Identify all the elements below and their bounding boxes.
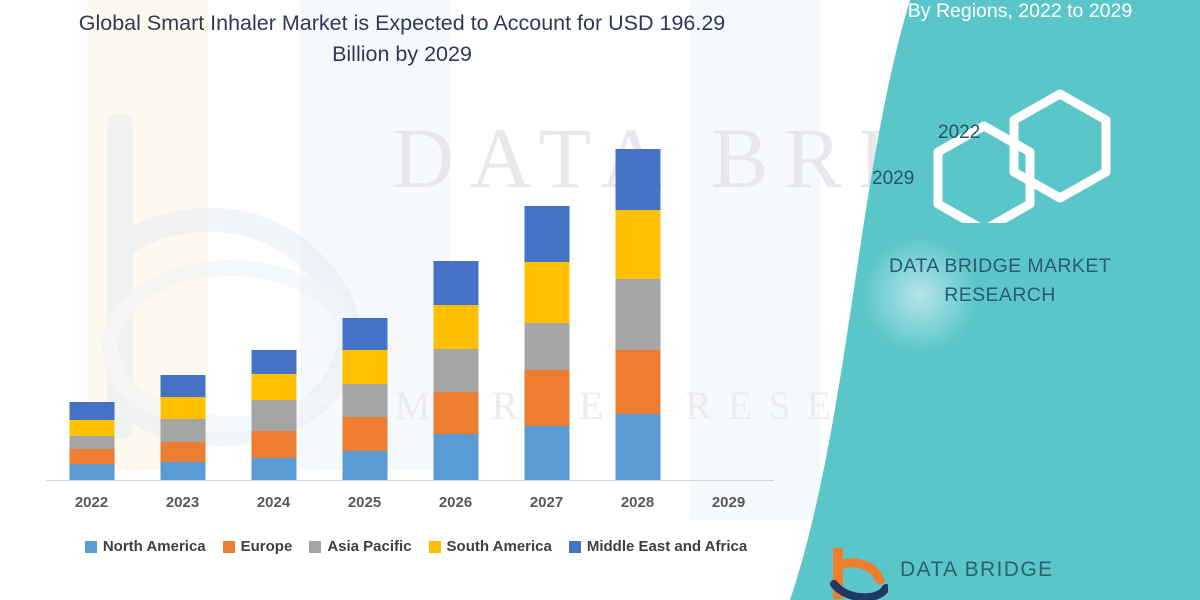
bar-segment <box>615 210 660 279</box>
bar-segment <box>69 420 114 436</box>
bar-segment <box>160 419 205 442</box>
x-axis-label: 2029 <box>683 494 774 511</box>
x-axis-label: 2028 <box>592 494 683 511</box>
bar-segment <box>69 436 114 449</box>
x-axis-line <box>46 480 774 481</box>
legend-swatch-icon <box>85 541 97 553</box>
stacked-bar <box>251 350 296 480</box>
x-axis-label: 2026 <box>410 494 501 511</box>
bar-segment <box>524 323 569 370</box>
right-teal-panel: By Regions, 2022 to 2029 2022 2029 DATA … <box>790 0 1200 600</box>
bar-segment <box>342 350 387 384</box>
stacked-bar <box>342 318 387 480</box>
bar-segment <box>524 262 569 323</box>
legend-label: North America <box>103 538 206 555</box>
bar-segment <box>160 442 205 463</box>
legend-label: Middle East and Africa <box>587 538 747 555</box>
stacked-bar <box>69 402 114 480</box>
bar-segment <box>615 414 660 480</box>
bar-segment <box>524 370 569 426</box>
panel-brand: DATA BRIDGE MARKET RESEARCH <box>820 252 1180 310</box>
bar-segment <box>433 349 478 391</box>
x-axis-label: 2022 <box>46 494 137 511</box>
bar-segment <box>251 374 296 399</box>
hex-label-2029: 2029 <box>872 168 914 190</box>
infographic-canvas: DATA BRIDGE MARKET RESEARCH Global Smart… <box>0 0 1200 600</box>
bar-segment <box>433 305 478 349</box>
bar-segment <box>433 392 478 434</box>
bar-segment <box>524 206 569 262</box>
panel-brand-line-1: DATA BRIDGE MARKET <box>820 252 1180 281</box>
legend-item[interactable]: Asia Pacific <box>309 538 411 555</box>
bar-segment <box>69 402 114 420</box>
bar-segment <box>615 350 660 414</box>
legend-swatch-icon <box>309 541 321 553</box>
bar-segment <box>251 350 296 375</box>
panel-brand-line-2: RESEARCH <box>820 281 1180 310</box>
x-axis-label: 2023 <box>137 494 228 511</box>
bar-group <box>501 60 592 480</box>
legend-swatch-icon <box>569 541 581 553</box>
data-bridge-b-icon <box>830 548 888 600</box>
data-bridge-logo: DATA BRIDGE <box>830 548 1160 600</box>
bar-group <box>410 60 501 480</box>
legend-item[interactable]: North America <box>85 538 206 555</box>
bar-segment <box>251 431 296 458</box>
bar-segment <box>69 449 114 465</box>
legend-item[interactable]: South America <box>429 538 552 555</box>
bar-group <box>683 60 774 480</box>
x-axis-label: 2025 <box>319 494 410 511</box>
panel-content: By Regions, 2022 to 2029 2022 2029 DATA … <box>790 0 1200 600</box>
x-axis-label: 2027 <box>501 494 592 511</box>
x-axis-label: 2024 <box>228 494 319 511</box>
bar-group <box>137 60 228 480</box>
stacked-bar <box>615 149 660 480</box>
page-title: Global Smart Inhaler Market is Expected … <box>52 8 752 70</box>
bar-segment <box>615 279 660 351</box>
bar-group <box>46 60 137 480</box>
legend-swatch-icon <box>429 541 441 553</box>
chart-legend: North AmericaEuropeAsia PacificSouth Ame… <box>46 538 786 555</box>
bar-segment <box>342 417 387 450</box>
bar-segment <box>342 318 387 349</box>
bar-segment <box>160 397 205 419</box>
panel-heading: By Regions, 2022 to 2029 <box>850 0 1190 25</box>
stacked-bar <box>433 261 478 480</box>
bar-segment <box>615 149 660 210</box>
hex-label-2022: 2022 <box>938 122 980 144</box>
logo-text: DATA BRIDGE <box>900 548 1053 582</box>
chart-plot-area <box>46 60 774 480</box>
stacked-bar-chart: 20222023202420252026202720282029 <box>0 0 820 600</box>
bar-group <box>228 60 319 480</box>
bar-segment <box>524 426 569 480</box>
bar-segment <box>433 434 478 480</box>
bar-segment <box>433 261 478 305</box>
stacked-bar <box>160 375 205 480</box>
bar-segment <box>342 451 387 480</box>
bar-group <box>592 60 683 480</box>
bar-segment <box>160 462 205 480</box>
legend-item[interactable]: Europe <box>223 538 293 555</box>
logo-name: DATA BRIDGE <box>900 558 1053 582</box>
stacked-bar <box>524 206 569 480</box>
bar-segment <box>160 375 205 398</box>
legend-label: Europe <box>241 538 293 555</box>
hexagon-badges <box>910 88 1140 223</box>
bar-segment <box>251 458 296 480</box>
bar-segment <box>251 400 296 431</box>
legend-item[interactable]: Middle East and Africa <box>569 538 747 555</box>
legend-label: South America <box>447 538 552 555</box>
legend-swatch-icon <box>223 541 235 553</box>
legend-label: Asia Pacific <box>327 538 411 555</box>
bar-segment <box>69 464 114 480</box>
x-axis-labels: 20222023202420252026202720282029 <box>46 494 774 520</box>
bar-group <box>319 60 410 480</box>
bar-segment <box>342 384 387 417</box>
